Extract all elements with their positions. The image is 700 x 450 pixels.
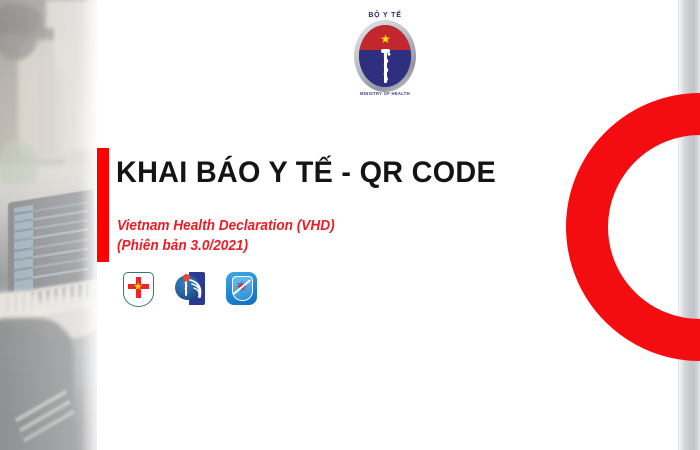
logo-bottom-text: MINISTRY OF HEALTH [354, 91, 416, 96]
page-title: KHAI BÁO Y TẾ - QR CODE [116, 156, 496, 190]
red-ring-decoration [566, 93, 700, 361]
logo-top-text: BỘ Y TẾ [354, 12, 416, 19]
bluezone-virus-shield-icon[interactable] [224, 270, 259, 308]
logo-star-icon: ★ [380, 34, 391, 45]
app-icon-row: ★ [120, 270, 259, 308]
photo-right-fade [81, 0, 97, 450]
subtitle-line-2: (Phiên bản 3.0/2021) [117, 236, 335, 256]
office-people-laptop-photo [0, 0, 97, 450]
title-accent-bar [97, 148, 109, 262]
logo-snake-icon [377, 51, 395, 83]
ministry-of-health-logo: ★ BỘ Y TẾ MINISTRY OF HEALTH [354, 12, 416, 96]
slide-canvas: ★ BỘ Y TẾ MINISTRY OF HEALTH KHAI BÁO Y … [0, 0, 700, 450]
logo-inner-disc: ★ [359, 25, 411, 87]
subtitle-block: Vietnam Health Declaration (VHD) (Phiên … [117, 216, 349, 256]
vietnam-health-declaration-icon[interactable] [172, 270, 207, 308]
yellow-star-icon: ★ [133, 282, 143, 292]
ncovi-health-shield-icon[interactable]: ★ [120, 270, 155, 308]
vhd-wave-icon [188, 277, 205, 299]
subtitle-line-1: Vietnam Health Declaration (VHD) [117, 216, 335, 236]
